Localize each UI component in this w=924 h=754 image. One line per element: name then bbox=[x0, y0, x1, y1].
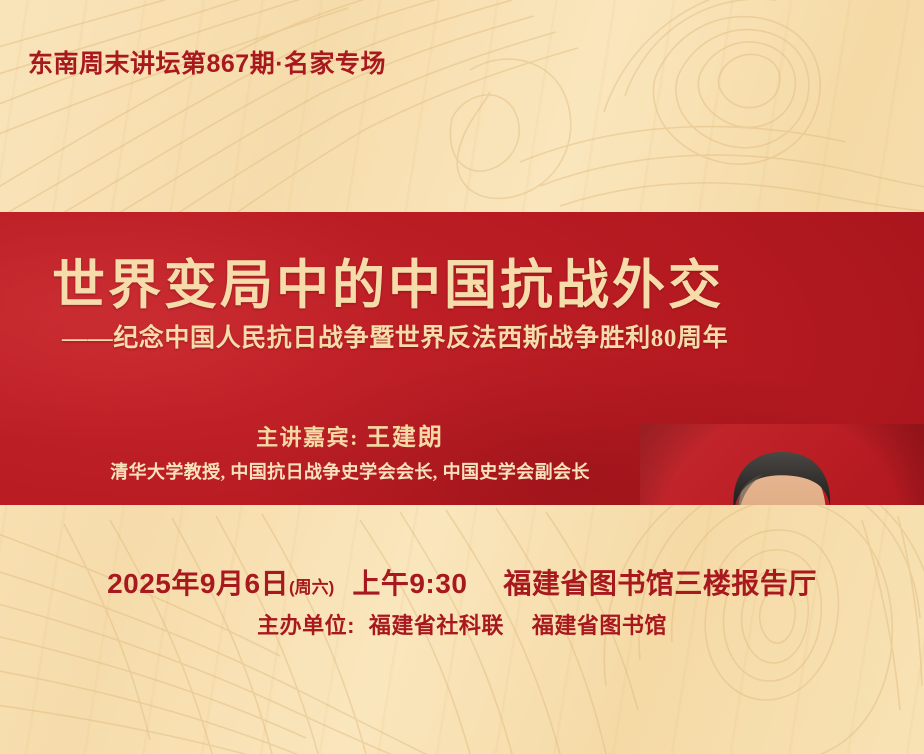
event-datetime-venue: 2025年9月6日(周六)上午9:30福建省图书馆三楼报告厅 bbox=[0, 562, 924, 602]
organizer-line: 主办单位:福建省社科联福建省图书馆 bbox=[0, 608, 924, 640]
lecture-poster: 东南周末讲坛第867期·名家专场 世界变局中的中国抗战外交 ——纪念中国人民抗日… bbox=[0, 0, 924, 754]
organizer-two: 福建省图书馆 bbox=[532, 613, 667, 638]
event-venue: 福建省图书馆三楼报告厅 bbox=[503, 568, 817, 599]
sub-title: ——纪念中国人民抗日战争暨世界反法西斯战争胜利80周年 bbox=[62, 326, 728, 351]
main-title: 世界变局中的中国抗战外交 bbox=[52, 260, 724, 313]
series-header-title: 东南周末讲坛第867期·名家专场 bbox=[28, 44, 386, 80]
event-date: 2025年9月6日 bbox=[107, 568, 289, 599]
red-banner: 世界变局中的中国抗战外交 ——纪念中国人民抗日战争暨世界反法西斯战争胜利80周年… bbox=[0, 212, 924, 505]
title-block: 世界变局中的中国抗战外交 ——纪念中国人民抗日战争暨世界反法西斯战争胜利80周年… bbox=[0, 212, 700, 505]
organizer-label: 主办单位: bbox=[257, 613, 355, 638]
speaker-name: 王建朗 bbox=[366, 425, 444, 451]
event-weekday: (周六) bbox=[289, 578, 334, 597]
speaker-bio: 清华大学教授, 中国抗日战争史学会会长, 中国史学会副会长 bbox=[0, 458, 700, 484]
speaker-line: 主讲嘉宾: 王建朗 bbox=[0, 417, 700, 452]
speaker-label: 主讲嘉宾: bbox=[256, 425, 359, 450]
organizer-one: 福建省社科联 bbox=[369, 613, 504, 638]
event-time: 上午9:30 bbox=[352, 568, 467, 599]
speaker-portrait bbox=[640, 424, 924, 505]
